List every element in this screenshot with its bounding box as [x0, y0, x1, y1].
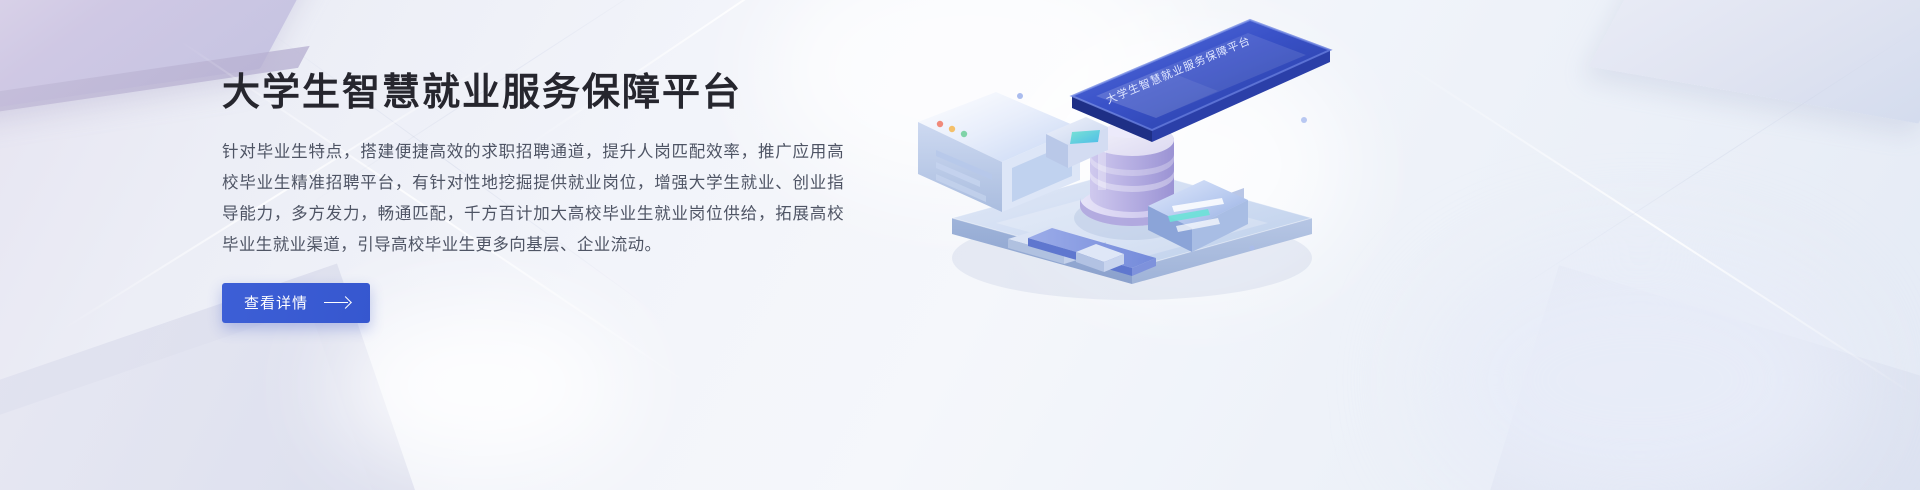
view-details-button[interactable]: 查看详情 [222, 283, 370, 323]
decor-wedge-bottom-right [1465, 265, 1920, 490]
view-details-label: 查看详情 [244, 292, 308, 313]
isometric-illustration: 大学生智慧就业服务保障平台 [900, 0, 1400, 300]
decor-slab-top-right [1589, 0, 1920, 124]
hero-banner: 大学生智慧就业服务保障平台 针对毕业生特点，搭建便捷高效的求职招聘通道，提升人岗… [0, 0, 1920, 490]
art-dot-2 [1301, 117, 1307, 123]
page-title: 大学生智慧就业服务保障平台 [222, 72, 862, 115]
banner-description: 针对毕业生特点，搭建便捷高效的求职招聘通道，提升人岗匹配效率，推广应用高校毕业生… [222, 137, 844, 261]
arrow-right-icon [324, 297, 350, 309]
art-dot-1 [1017, 93, 1023, 99]
banner-content: 大学生智慧就业服务保障平台 针对毕业生特点，搭建便捷高效的求职招聘通道，提升人岗… [222, 72, 862, 323]
art-dot-3 [1250, 246, 1255, 251]
